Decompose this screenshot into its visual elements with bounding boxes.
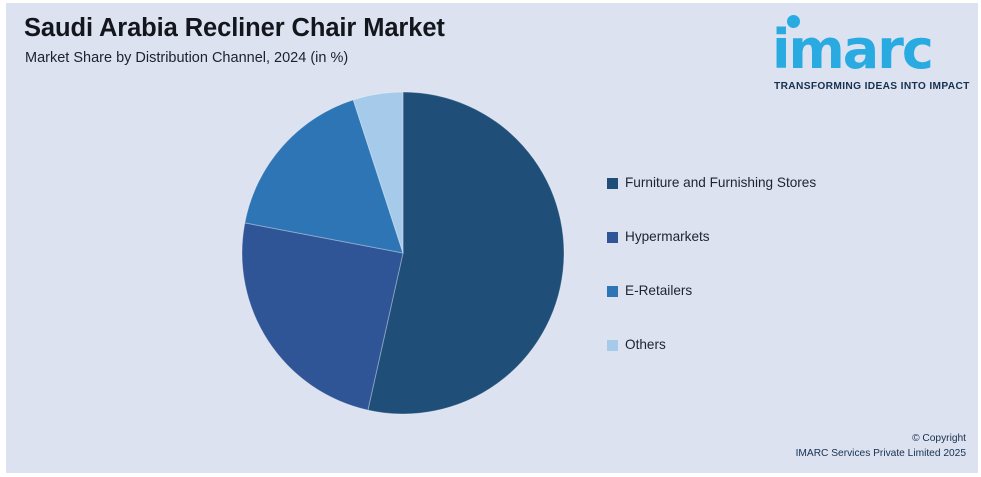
- imarc-logo: imarc TRANSFORMING IDEAS INTO IMPACT: [760, 9, 970, 93]
- page-title: Saudi Arabia Recliner Chair Market: [24, 14, 445, 43]
- infographic-canvas: Saudi Arabia Recliner Chair Market Marke…: [6, 3, 978, 473]
- chart-legend: Furniture and Furnishing StoresHypermark…: [607, 175, 937, 391]
- copyright-line-2: IMARC Services Private Limited 2025: [796, 446, 966, 461]
- page-subtitle: Market Share by Distribution Channel, 20…: [25, 50, 348, 66]
- legend-swatch-icon: [607, 232, 618, 243]
- legend-swatch-icon: [607, 178, 618, 189]
- copyright-notice: © Copyright IMARC Services Private Limit…: [796, 431, 966, 461]
- logo-tagline: TRANSFORMING IDEAS INTO IMPACT: [774, 81, 970, 92]
- legend-item[interactable]: E-Retailers: [607, 283, 937, 299]
- legend-item-label: Furniture and Furnishing Stores: [625, 175, 816, 191]
- legend-swatch-icon: [607, 340, 618, 351]
- legend-item[interactable]: Others: [607, 337, 937, 353]
- legend-item-label: Hypermarkets: [625, 229, 710, 245]
- pie-chart: [236, 86, 572, 422]
- pie-chart-svg: [236, 86, 572, 422]
- legend-item-label: Others: [625, 337, 666, 353]
- legend-swatch-icon: [607, 286, 618, 297]
- copyright-line-1: © Copyright: [796, 431, 966, 446]
- legend-item-label: E-Retailers: [625, 283, 692, 299]
- legend-item[interactable]: Hypermarkets: [607, 229, 937, 245]
- legend-item[interactable]: Furniture and Furnishing Stores: [607, 175, 937, 191]
- logo-wordmark: imarc: [772, 21, 932, 79]
